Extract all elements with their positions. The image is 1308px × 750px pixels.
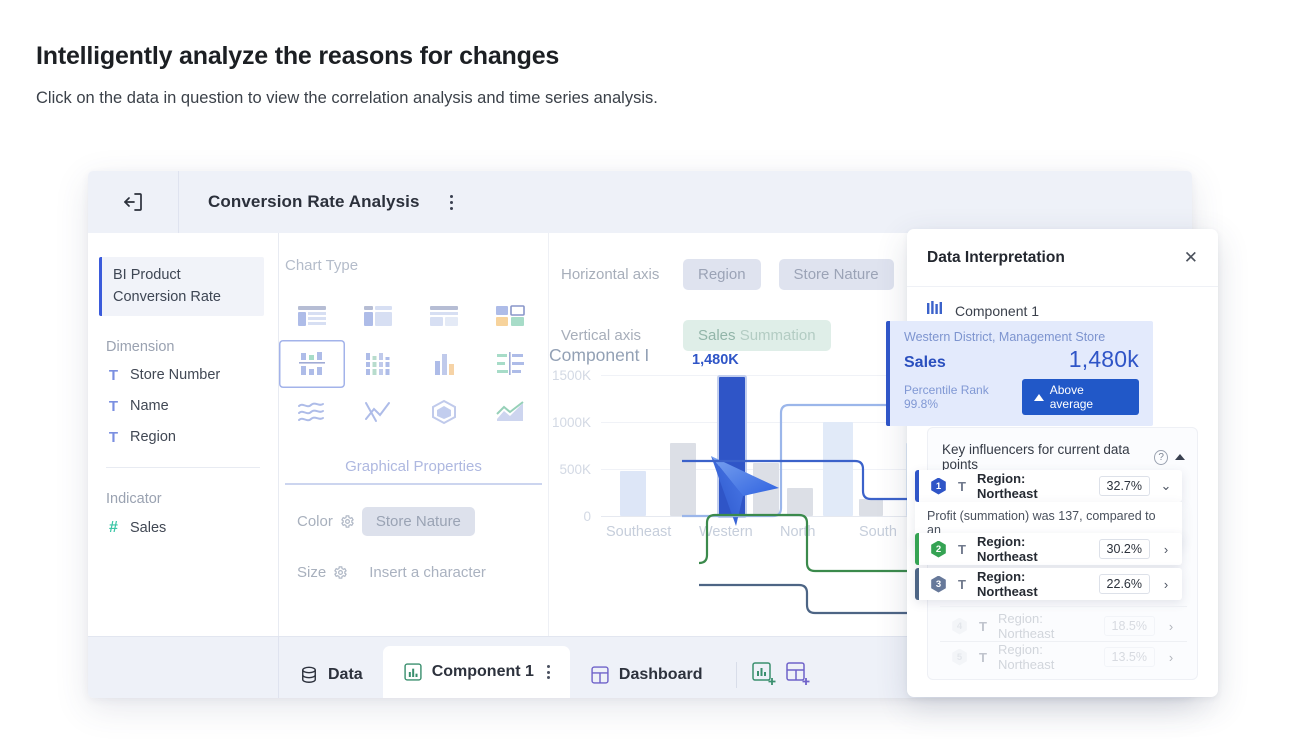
tab-component-1[interactable]: Component 1 (383, 646, 570, 698)
rank-badge: 1 (930, 478, 947, 495)
influencer-percent: 13.5% (1104, 647, 1155, 667)
rank-number: 3 (936, 579, 941, 590)
tabbar-spacer (88, 636, 279, 698)
y-tick-label: 0 (583, 509, 591, 524)
kebab-menu-icon[interactable] (450, 195, 453, 210)
key-influencers-header: Key influencers for current data points … (928, 428, 1197, 472)
dataset-line-2: Conversion Rate (113, 286, 258, 308)
kebab-menu-icon[interactable] (547, 665, 550, 679)
rank-badge: 5 (951, 649, 968, 666)
influencer-label: Region: Northeast (998, 642, 1095, 672)
y-tick-label: 500K (559, 462, 591, 477)
chevron-right-icon[interactable]: › (1164, 619, 1178, 634)
field-item-name[interactable]: T Name (88, 391, 278, 422)
influencer-percent: 32.7% (1099, 476, 1150, 496)
callout-percentile-rank: Percentile Rank 99.8% (904, 383, 1022, 411)
text-field-icon: T (956, 577, 968, 592)
field-pane: BI Product Conversion Rate Dimension T S… (88, 233, 279, 636)
chevron-right-icon[interactable]: › (1164, 650, 1178, 665)
influencer-row-5[interactable]: 5 T Region: Northeast 13.5% › (940, 641, 1187, 673)
bar-chart-icon[interactable] (411, 340, 477, 388)
chevron-down-icon[interactable]: ⌄ (1159, 478, 1173, 494)
influencer-row-4[interactable]: 4 T Region: Northeast 18.5% › (940, 610, 1187, 642)
table-chart-icon[interactable] (279, 292, 345, 340)
influencer-label: Region: Northeast (977, 534, 1090, 564)
panel-component-row: Component 1 (907, 287, 1218, 321)
bar-north-2[interactable] (859, 499, 883, 516)
bar-mid[interactable] (787, 488, 813, 516)
exit-icon (121, 190, 145, 214)
influencer-row-3[interactable]: 3 T Region: Northeast 22.6% › (915, 568, 1182, 600)
tab-label: Data (328, 666, 363, 684)
polygon-chart-icon[interactable] (411, 388, 477, 436)
property-label: Color (297, 513, 333, 530)
property-value-color[interactable]: Store Nature (362, 507, 475, 536)
bar-chart-icon (403, 662, 423, 682)
exit-button[interactable] (88, 171, 179, 233)
data-interpretation-panel: Data Interpretation ✕ Component 1 Wester… (907, 229, 1218, 697)
influencer-percent: 18.5% (1104, 616, 1155, 636)
panel-title: Data Interpretation (927, 249, 1065, 267)
y-tick-label: 1000K (552, 415, 591, 430)
field-label: Region (130, 429, 176, 445)
influencer-label: Region: Northeast (998, 611, 1095, 641)
database-icon (299, 665, 319, 685)
tabbar-divider (736, 662, 737, 688)
field-item-region[interactable]: T Region (88, 422, 278, 453)
close-icon[interactable]: ✕ (1184, 249, 1198, 266)
data-callout: Western District, Management Store Sales… (886, 321, 1153, 426)
vertical-axis-pill-field: Sales (698, 327, 736, 344)
bar-north[interactable] (823, 422, 853, 516)
cursor-arrow-icon (709, 452, 783, 530)
rank-number: 1 (936, 481, 941, 492)
dataset-chip[interactable]: BI Product Conversion Rate (99, 257, 264, 316)
indicator-group-label: Indicator (106, 491, 278, 507)
vertical-axis-pill-agg: Summation (740, 327, 816, 344)
add-chart-button[interactable] (751, 661, 779, 689)
dataset-line-1: BI Product (113, 264, 258, 286)
tab-data[interactable]: Data (279, 652, 383, 698)
property-row-color: Color Store Nature (297, 507, 548, 536)
panel-header: Data Interpretation ✕ (907, 229, 1218, 287)
panel-component-label: Component 1 (955, 303, 1039, 319)
chevron-right-icon[interactable]: › (1159, 542, 1173, 557)
callout-main: Sales 1,480k (904, 346, 1139, 373)
status-badge: Above average (1022, 379, 1139, 415)
text-field-icon: T (107, 429, 120, 446)
rank-badge: 2 (930, 541, 947, 558)
chevron-right-icon[interactable]: › (1159, 577, 1173, 592)
x-tick-label: Southeast (606, 524, 671, 540)
influencer-row-1[interactable]: 1 T Region: Northeast 32.7% ⌄ (915, 470, 1182, 502)
bar-value-label: 1,480K (692, 352, 739, 368)
bar-southeast-2[interactable] (670, 443, 696, 516)
question-circle-icon[interactable]: ? (1154, 450, 1168, 465)
dimension-group-label: Dimension (106, 339, 278, 355)
key-influencers-title: Key influencers for current data points (942, 442, 1147, 472)
rank-number: 4 (957, 621, 962, 632)
callout-subtitle: Western District, Management Store (904, 330, 1139, 344)
influencer-row-2[interactable]: 2 T Region: Northeast 30.2% › (915, 533, 1182, 565)
app-titlebar: Conversion Rate Analysis (88, 171, 1192, 233)
influencer-percent: 22.6% (1099, 574, 1150, 594)
badge-label: Above average (1050, 383, 1127, 411)
bar-southeast[interactable] (620, 471, 646, 516)
vertical-axis-label: Vertical axis (561, 327, 665, 344)
triangle-up-icon (1034, 394, 1044, 401)
rank-number: 2 (936, 544, 941, 555)
text-field-icon: T (107, 367, 120, 384)
callout-value: 1,480k (1069, 346, 1139, 373)
graphical-properties-label: Graphical Properties (279, 458, 548, 475)
gear-icon[interactable] (333, 565, 348, 580)
config-pane: Chart Type (279, 233, 549, 636)
stream-chart-icon[interactable] (279, 388, 345, 436)
horizontal-bar-icon[interactable] (477, 340, 543, 388)
rank-number: 5 (957, 652, 962, 663)
horizontal-axis-pill-region[interactable]: Region (683, 259, 761, 290)
influencer-divider (940, 606, 1187, 607)
chart-title: Component I (549, 345, 649, 366)
column-chart-icon[interactable] (345, 340, 411, 388)
tab-label: Dashboard (619, 666, 703, 684)
text-field-icon: T (107, 398, 120, 415)
text-field-icon: T (977, 619, 989, 634)
x-tick-label: South (859, 524, 897, 540)
horizontal-axis-pill-store-nature[interactable]: Store Nature (779, 259, 894, 290)
field-item-sales[interactable]: # Sales (88, 512, 278, 544)
chart-type-label: Chart Type (285, 257, 548, 274)
page-root: Intelligently analyze the reasons for ch… (0, 0, 1308, 750)
text-field-icon: T (956, 542, 968, 557)
text-field-icon: T (956, 479, 968, 494)
tab-label: Component 1 (432, 663, 534, 681)
gear-icon[interactable] (340, 514, 355, 529)
caret-up-icon[interactable] (1175, 454, 1185, 460)
property-row-size: Size Insert a character (297, 558, 548, 587)
pivot-table-icon[interactable] (411, 292, 477, 340)
area-chart-icon[interactable] (477, 388, 543, 436)
grouped-bar-chart-icon[interactable] (279, 340, 345, 388)
tab-dashboard[interactable]: Dashboard (570, 652, 723, 698)
number-field-icon: # (107, 519, 120, 537)
influencer-percent: 30.2% (1099, 539, 1150, 559)
graphical-properties-rule (285, 483, 542, 485)
influencer-label: Region: Northeast (977, 471, 1090, 501)
property-label: Size (297, 564, 326, 581)
field-pane-divider (106, 467, 260, 468)
field-label: Sales (130, 520, 166, 536)
cross-table-icon[interactable] (345, 292, 411, 340)
x-tick-label: North (780, 524, 815, 540)
callout-footer: Percentile Rank 99.8% Above average (904, 379, 1139, 415)
key-influencers-box: Key influencers for current data points … (927, 427, 1198, 680)
kpi-cards-icon[interactable] (477, 292, 543, 340)
influencer-label: Region: Northeast (977, 569, 1090, 599)
callout-metric: Sales (904, 354, 946, 372)
page-subtitle: Click on the data in question to view th… (36, 89, 658, 108)
add-dashboard-button[interactable] (785, 661, 813, 689)
bar-chart-icon (927, 301, 944, 321)
property-value-size[interactable]: Insert a character (355, 558, 500, 587)
vertical-axis-pill-sales[interactable]: Sales Summation (683, 320, 831, 351)
document-title: Conversion Rate Analysis (208, 192, 420, 212)
chart-type-grid (279, 292, 548, 436)
dashboard-grid-icon (590, 665, 610, 685)
field-label: Name (130, 398, 169, 414)
horizontal-axis-label: Horizontal axis (561, 266, 665, 283)
y-tick-label: 1500K (552, 368, 591, 383)
rank-badge: 3 (930, 576, 947, 593)
page-title: Intelligently analyze the reasons for ch… (36, 42, 559, 71)
field-item-store-number[interactable]: T Store Number (88, 360, 278, 391)
rank-badge: 4 (951, 618, 968, 635)
text-field-icon: T (977, 650, 989, 665)
scatter-line-icon[interactable] (345, 388, 411, 436)
field-label: Store Number (130, 367, 220, 383)
